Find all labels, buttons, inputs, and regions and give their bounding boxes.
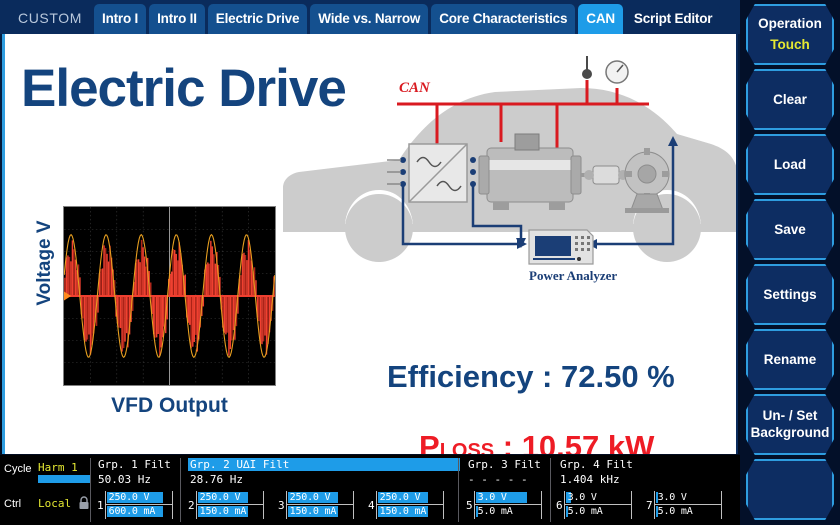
channel-4[interactable]: 4250.0 V150.0 mA (368, 491, 444, 519)
power-analyzer-keypad (575, 236, 590, 251)
cycle-row: Cycle Harm 1 (2, 457, 94, 488)
softkey-un-set-background[interactable]: Un- / SetBackground (746, 394, 834, 455)
tab-intro-i[interactable]: Intro I (94, 4, 146, 34)
tab-intro-ii[interactable]: Intro II (149, 4, 205, 34)
channel-1[interactable]: 1250.0 V600.0 mA (97, 491, 173, 519)
group-4-frequency: 1.404 kHz (558, 473, 734, 486)
group-separator (90, 458, 91, 522)
motor-body-highlight (487, 160, 573, 170)
channel-4-number: 4 (368, 499, 375, 512)
softkey-operation-label: Operation (758, 16, 822, 32)
dyno-hub (638, 165, 656, 183)
group-separator (550, 458, 551, 522)
status-left-block: Cycle Harm 1 Ctrl Local (2, 457, 94, 523)
softkey-blank[interactable] (746, 459, 834, 520)
channel-5[interactable]: 53.0 V5.0 mA (466, 491, 542, 519)
scope-panel: Voltage V (23, 204, 283, 444)
group-separator (180, 458, 181, 522)
channel-6-current-value: 5.0 mA (568, 506, 603, 517)
status-bar: Cycle Harm 1 Ctrl Local Grp. 1 Filt50.03… (0, 455, 740, 525)
softkey-operation-sublabel: Touch (770, 37, 810, 53)
channel-1-voltage-value: 250.0 V (109, 492, 150, 503)
softkey-settings-label: Settings (763, 287, 816, 303)
group-4-header[interactable]: Grp. 4 Filt (558, 458, 734, 471)
scope-display (63, 206, 276, 386)
group-1[interactable]: Grp. 1 Filt50.03 Hz (96, 458, 182, 486)
channel-3-current-value: 150.0 mA (290, 506, 337, 517)
tab-electric-drive[interactable]: Electric Drive (208, 4, 308, 34)
motor-endbell-left (479, 156, 489, 194)
channel-7-current-value: 5.0 mA (658, 506, 693, 517)
torque-coupling (593, 166, 619, 184)
cycle-bar (38, 475, 90, 483)
dyno-base (631, 194, 663, 210)
ctrl-value[interactable]: Local (38, 497, 71, 510)
softkey-operation[interactable]: OperationTouch (746, 4, 834, 65)
group-3-frequency: - - - - - (466, 473, 552, 486)
soft-key-sidebar: OperationTouchClearLoadSaveSettingsRenam… (740, 0, 840, 525)
channel-7-number: 7 (646, 499, 653, 512)
lock-icon (78, 496, 90, 510)
channel-7-bars: 3.0 V5.0 mA (654, 491, 722, 519)
channel-7-voltage-value: 3.0 V (658, 492, 687, 503)
power-analyzer-led (577, 257, 581, 261)
application-window: CUSTOM Intro IIntro IIElectric DriveWide… (0, 0, 840, 525)
ctrl-row: Ctrl Local (2, 488, 94, 519)
channel-6-number: 6 (556, 499, 563, 512)
tab-can[interactable]: CAN (578, 4, 623, 34)
custom-label: CUSTOM (4, 10, 94, 34)
channel-3-bars: 250.0 V150.0 mA (286, 491, 354, 519)
channel-2-bars: 250.0 V150.0 mA (196, 491, 264, 519)
power-analyzer-label: Power Analyzer (529, 268, 617, 283)
group-2-frequency: 28.76 Hz (188, 473, 460, 486)
ploss-prefix: P (419, 429, 440, 454)
power-loss-readout: PLOSS : 10.57 kW (419, 429, 654, 454)
softkey-save-label: Save (774, 222, 806, 238)
channel-3-number: 3 (278, 499, 285, 512)
channel-4-current-value: 150.0 mA (380, 506, 427, 517)
softkey-settings[interactable]: Settings (746, 264, 834, 325)
channel-5-voltage-value: 3.0 V (478, 492, 507, 503)
ploss-value: : 10.57 kW (494, 429, 654, 454)
channel-6-bars: 3.0 V5.0 mA (564, 491, 632, 519)
channel-2-number: 2 (188, 499, 195, 512)
group-3-header[interactable]: Grp. 3 Filt (466, 458, 552, 471)
tab-bar: CUSTOM Intro IIntro IIElectric DriveWide… (0, 0, 740, 34)
motor-terminal-box (515, 134, 539, 150)
dyno-foot (625, 208, 669, 213)
group-4[interactable]: Grp. 4 Filt1.404 kHz (558, 458, 734, 486)
motor-foot-right (549, 202, 565, 210)
channel-6[interactable]: 63.0 V5.0 mA (556, 491, 632, 519)
motor-body (487, 148, 573, 202)
channel-1-bars: 250.0 V600.0 mA (105, 491, 173, 519)
channel-4-voltage-value: 250.0 V (380, 492, 421, 503)
scope-waveform (64, 207, 275, 385)
inverter-output-terminals (470, 157, 476, 187)
tab-core-characteristics[interactable]: Core Characteristics (431, 4, 575, 34)
softkey-load[interactable]: Load (746, 134, 834, 195)
cycle-label: Cycle (4, 463, 32, 475)
cycle-value[interactable]: Harm 1 (38, 461, 78, 474)
channel-2-voltage-value: 250.0 V (200, 492, 241, 503)
softkey-rename[interactable]: Rename (746, 329, 834, 390)
softkey-rename-label: Rename (764, 352, 817, 368)
custom-page-canvas: Electric Drive CAN (2, 34, 738, 454)
softkey-load-label: Load (774, 157, 806, 173)
power-analyzer-screen (535, 236, 571, 256)
channel-1-current-value: 600.0 mA (109, 506, 156, 517)
channel-3-voltage-value: 250.0 V (290, 492, 331, 503)
ploss-subscript: LOSS (440, 440, 494, 454)
channel-5-current-value: 5.0 mA (478, 506, 513, 517)
motor-endbell-right (571, 156, 581, 194)
group-2[interactable]: Grp. 2 U∆I Filt28.76 Hz (188, 458, 460, 486)
channel-5-bars: 3.0 V5.0 mA (474, 491, 542, 519)
group-2-header[interactable]: Grp. 2 U∆I Filt (188, 458, 460, 471)
tab-script-editor[interactable]: Script Editor (626, 4, 720, 34)
motor-foot-left (493, 202, 509, 210)
softkey-un-set-background-label: Un- / SetBackground (751, 408, 830, 442)
softkey-save[interactable]: Save (746, 199, 834, 260)
ctrl-label: Ctrl (4, 498, 21, 510)
group-separator (458, 458, 459, 522)
group-1-header[interactable]: Grp. 1 Filt (96, 458, 182, 471)
efficiency-readout: Efficiency : 72.50 % (387, 359, 675, 395)
channel-6-voltage-value: 3.0 V (568, 492, 597, 503)
scope-x-axis-label: VFD Output (63, 394, 276, 418)
tab-wide-vs-narrow[interactable]: Wide vs. Narrow (310, 4, 428, 34)
channel-2[interactable]: 2250.0 V150.0 mA (188, 491, 264, 519)
channel-7[interactable]: 73.0 V5.0 mA (646, 491, 722, 519)
sensor-icon (582, 69, 592, 79)
channel-5-number: 5 (466, 499, 473, 512)
softkey-clear[interactable]: Clear (746, 69, 834, 130)
group-3[interactable]: Grp. 3 Filt- - - - - (466, 458, 552, 486)
softkey-clear-label: Clear (773, 92, 807, 108)
group-1-frequency: 50.03 Hz (96, 473, 182, 486)
channel-3[interactable]: 3250.0 V150.0 mA (278, 491, 354, 519)
electric-drive-diagram: CAN (281, 48, 738, 338)
scope-y-axis-label: Voltage V (34, 213, 56, 313)
channel-4-bars: 250.0 V150.0 mA (376, 491, 444, 519)
channel-1-number: 1 (97, 499, 104, 512)
coupling-joint-left (584, 170, 594, 180)
tab-list: Intro IIntro IIElectric DriveWide vs. Na… (94, 4, 723, 34)
channel-2-current-value: 150.0 mA (200, 506, 247, 517)
can-bus-label: CAN (399, 80, 431, 96)
